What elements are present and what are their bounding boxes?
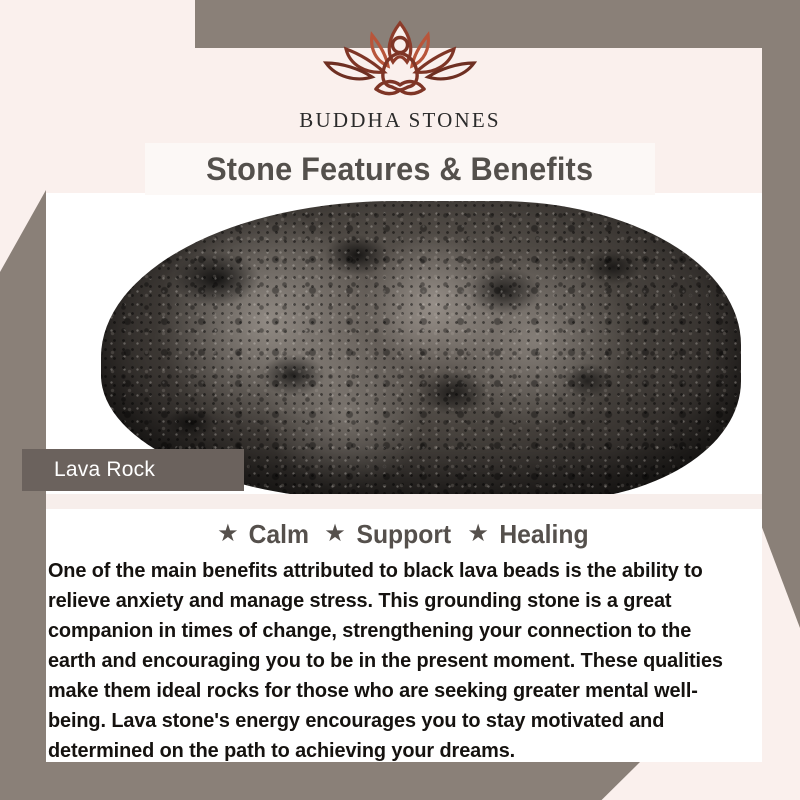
stone-name-text: Lava Rock <box>22 458 155 482</box>
star-icon: ★ <box>467 522 489 546</box>
content-panel: ★ Calm ★ Support ★ Healing One of the ma… <box>46 509 762 762</box>
keyword-healing: ★ Healing <box>467 519 590 550</box>
keyword-support: ★ Support <box>324 519 453 550</box>
keyword-label: Healing <box>499 519 588 550</box>
panel-divider-strip <box>46 494 762 509</box>
title-banner: Stone Features & Benefits <box>145 143 655 195</box>
keyword-list: ★ Calm ★ Support ★ Healing <box>46 509 762 550</box>
keyword-calm: ★ Calm <box>217 519 310 550</box>
stone-name-label: Lava Rock <box>22 449 244 491</box>
star-icon: ★ <box>217 522 239 546</box>
infographic-card: BUDDHA STONES Stone Features & Benefits … <box>0 0 800 800</box>
keyword-label: Support <box>356 519 451 550</box>
lotus-meditation-logo-icon <box>305 14 495 106</box>
brand-name: BUDDHA STONES <box>299 108 501 133</box>
frame-band-bottom <box>0 762 640 800</box>
keyword-label: Calm <box>248 519 308 550</box>
star-icon: ★ <box>324 522 346 546</box>
benefits-paragraph: One of the main benefits attributed to b… <box>46 556 741 766</box>
page-title: Stone Features & Benefits <box>206 151 593 188</box>
